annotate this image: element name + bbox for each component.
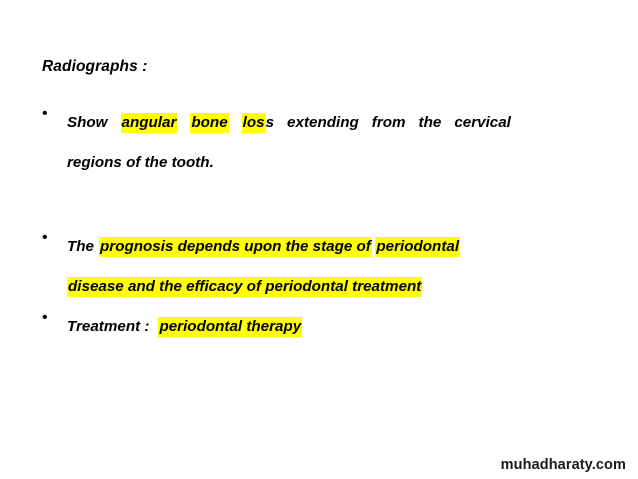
text-run: extending [287, 114, 359, 131]
bullet-marker: • [42, 103, 56, 125]
highlight-run: angular [121, 113, 178, 133]
text-line: regions of the tooth. [67, 143, 592, 183]
list-item-text: Showangularbonelossextendingfromthecervi… [67, 103, 592, 183]
text-run: regions of the tooth. [67, 154, 214, 171]
text-line: Showangularbonelossextendingfromthecervi… [67, 103, 592, 143]
text-run: Treatment : [67, 318, 149, 335]
watermark-label: muhadharaty.com [501, 457, 626, 473]
list-item-text: Treatment :periodontal therapy [67, 307, 592, 347]
highlight-run: disease and the efficacy of periodontal … [67, 277, 422, 297]
text-run: s [266, 114, 274, 131]
text-run: cervical [454, 114, 511, 131]
bullet-marker: • [42, 307, 56, 329]
bullet-marker: • [42, 227, 56, 249]
list-item: • Treatment :periodontal therapy [40, 307, 592, 347]
highlight-run: los [242, 113, 266, 133]
list-item: • Showangularbonelossextendingfromthecer… [40, 103, 592, 183]
highlight-run: periodontal therapy [158, 317, 302, 337]
text-run: the [419, 114, 442, 131]
text-line: disease and the efficacy of periodontal … [67, 267, 592, 307]
text-line: Treatment :periodontal therapy [67, 307, 592, 347]
page-title: Radiographs : [42, 58, 148, 76]
text-line: Theprognosis depends upon the stage ofpe… [67, 227, 592, 267]
highlight-run: bone [190, 113, 228, 133]
highlight-run: prognosis depends upon the stage of [99, 237, 372, 257]
text-run: The [67, 238, 94, 255]
list-item-text: Theprognosis depends upon the stage ofpe… [67, 227, 592, 307]
highlight-run: periodontal [375, 237, 460, 257]
list-item: • Theprognosis depends upon the stage of… [40, 227, 592, 307]
slide-canvas: Radiographs : • Showangularbonelossexten… [0, 0, 638, 479]
text-run: Show [67, 114, 108, 131]
text-run: from [372, 114, 406, 131]
